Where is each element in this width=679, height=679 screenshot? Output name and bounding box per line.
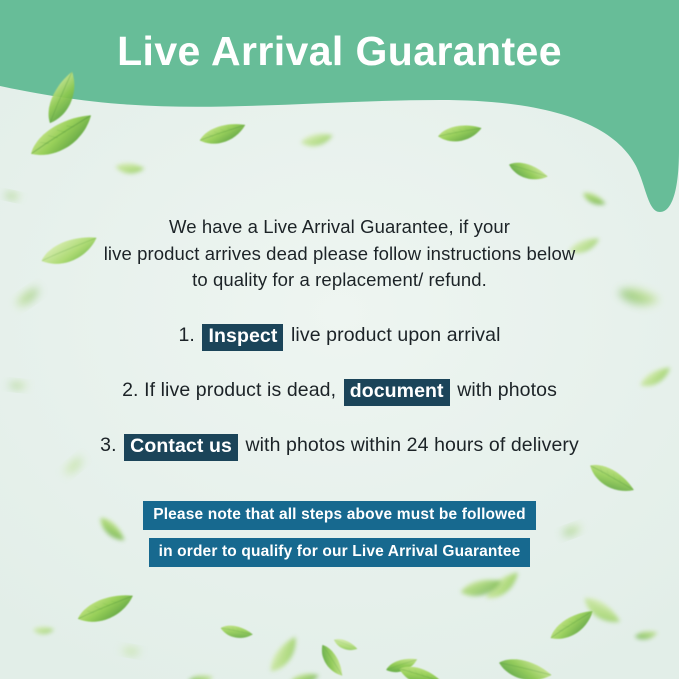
steps-list: 1. Inspect live product upon arrival 2. … [0,322,679,460]
intro-line-1: We have a Live Arrival Guarantee, if you… [0,214,679,241]
step-1-after: live product upon arrival [291,324,501,346]
intro-line-2: live product arrives dead please follow … [0,241,679,268]
live-arrival-guarantee-graphic: Live Arrival Guarantee We have a Live Ar… [0,0,679,679]
step-2-after: with photos [457,379,557,401]
step-item-2: 2. If live product is dead, document wit… [0,377,679,405]
step-item-3: 3. Contact us with photos within 24 hour… [0,432,679,460]
step-3-number: 3. [100,434,116,456]
leaf-group-bottom [33,569,658,679]
intro-paragraph: We have a Live Arrival Guarantee, if you… [0,214,679,294]
step-2-number: 2. [122,379,138,401]
step-2-before: If live product is dead, [144,379,336,401]
step-3-after: with photos within 24 hours of delivery [245,434,578,456]
note-line-2: in order to qualify for our Live Arrival… [149,538,531,567]
note-row-2: in order to qualify for our Live Arrival… [0,538,679,567]
step-1-number: 1. [178,324,194,346]
step-1-highlight: Inspect [202,324,283,351]
intro-line-3: to quality for a replacement/ refund. [0,267,679,294]
step-2-highlight: document [344,379,450,406]
note-row-1: Please note that all steps above must be… [0,501,679,538]
page-title: Live Arrival Guarantee [0,29,679,74]
note-line-1: Please note that all steps above must be… [143,501,536,530]
step-3-highlight: Contact us [124,434,238,461]
note-box: Please note that all steps above must be… [0,501,679,567]
step-item-1: 1. Inspect live product upon arrival [0,322,679,350]
